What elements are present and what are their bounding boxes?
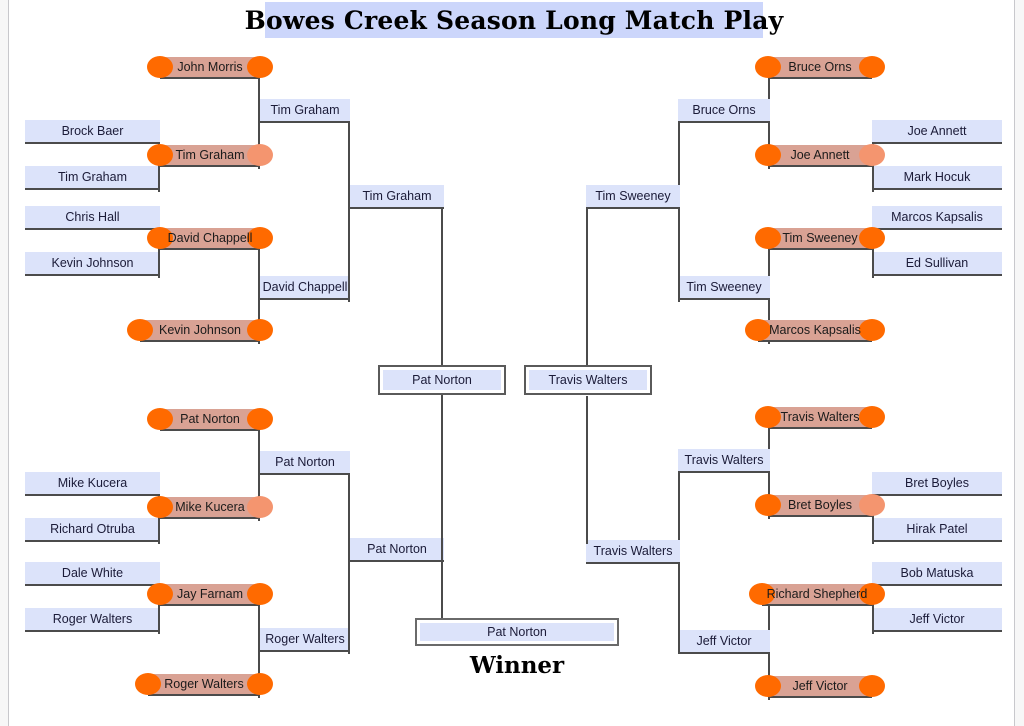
slot-right-r3-0[interactable]: Bruce Orns bbox=[678, 99, 770, 123]
winner-label: Winner bbox=[415, 652, 619, 679]
pill-right-r2-6[interactable]: Richard Shepherd bbox=[762, 584, 872, 606]
box-left-semifinal[interactable]: Pat Norton bbox=[378, 365, 506, 395]
slot-right-r4-1[interactable]: Travis Walters bbox=[586, 540, 680, 564]
bracket-page: Bowes Creek Season Long Match Play Brock… bbox=[0, 0, 1024, 726]
page-gutter-left bbox=[0, 0, 9, 726]
slot-left-r1-0[interactable]: Brock Baer bbox=[25, 120, 160, 144]
pill-left-r2-4[interactable]: Pat Norton bbox=[160, 409, 260, 431]
winner-box[interactable]: Pat Norton bbox=[415, 618, 619, 646]
pill-left-r2-6[interactable]: Jay Farnam bbox=[160, 584, 260, 606]
slot-right-r1-5[interactable]: Hirak Patel bbox=[872, 518, 1002, 542]
slot-right-r1-4[interactable]: Bret Boyles bbox=[872, 472, 1002, 496]
slot-left-r3-1[interactable]: David Chappell bbox=[260, 276, 350, 300]
slot-left-r1-4[interactable]: Mike Kucera bbox=[25, 472, 160, 496]
slot-right-r3-3[interactable]: Jeff Victor bbox=[678, 630, 770, 654]
pill-right-r2-1[interactable]: Joe Annett bbox=[768, 145, 872, 167]
pill-left-r2-1[interactable]: Tim Graham bbox=[160, 145, 260, 167]
connector-left-r3-1 bbox=[348, 475, 350, 654]
box-right-semifinal[interactable]: Travis Walters bbox=[524, 365, 652, 395]
slot-right-r3-1[interactable]: Tim Sweeney bbox=[678, 276, 770, 300]
connector-left-r4-0 bbox=[441, 209, 443, 367]
slot-right-r1-6[interactable]: Bob Matuska bbox=[872, 562, 1002, 586]
pill-right-r2-7[interactable]: Jeff Victor bbox=[768, 676, 872, 698]
pill-left-r2-7[interactable]: Roger Walters bbox=[148, 674, 260, 696]
slot-right-r4-0[interactable]: Tim Sweeney bbox=[586, 185, 680, 209]
page-title: Bowes Creek Season Long Match Play bbox=[265, 2, 763, 38]
slot-right-r1-2[interactable]: Marcos Kapsalis bbox=[872, 206, 1002, 230]
slot-left-r1-6[interactable]: Dale White bbox=[25, 562, 160, 586]
pill-right-r2-2[interactable]: Tim Sweeney bbox=[768, 228, 872, 250]
box-left-semifinal-label: Pat Norton bbox=[383, 370, 501, 390]
pill-right-r2-3[interactable]: Marcos Kapsalis bbox=[758, 320, 872, 342]
pill-right-r2-5[interactable]: Bret Boyles bbox=[768, 495, 872, 517]
slot-left-r4-1[interactable]: Pat Norton bbox=[350, 538, 444, 562]
slot-left-r3-0[interactable]: Tim Graham bbox=[260, 99, 350, 123]
slot-left-r4-0[interactable]: Tim Graham bbox=[350, 185, 444, 209]
winner-name: Pat Norton bbox=[420, 623, 614, 641]
connector-right-r4-0 bbox=[586, 209, 588, 367]
connector-right-r4-1 bbox=[586, 396, 588, 544]
pill-left-r2-5[interactable]: Mike Kucera bbox=[160, 497, 260, 519]
connector-right-r3-0 bbox=[678, 123, 680, 302]
slot-left-r1-2[interactable]: Chris Hall bbox=[25, 206, 160, 230]
connector-left-r3-0 bbox=[348, 123, 350, 302]
pill-right-r2-4[interactable]: Travis Walters bbox=[768, 407, 872, 429]
connector-left-final bbox=[441, 395, 443, 620]
pill-left-r2-0[interactable]: John Morris bbox=[160, 57, 260, 79]
slot-left-r1-5[interactable]: Richard Otruba bbox=[25, 518, 160, 542]
slot-right-r1-0[interactable]: Joe Annett bbox=[872, 120, 1002, 144]
slot-left-r1-7[interactable]: Roger Walters bbox=[25, 608, 160, 632]
pill-right-r2-0[interactable]: Bruce Orns bbox=[768, 57, 872, 79]
slot-left-r3-3[interactable]: Roger Walters bbox=[260, 628, 350, 652]
slot-right-r1-1[interactable]: Mark Hocuk bbox=[872, 166, 1002, 190]
page-gutter-right bbox=[1014, 0, 1024, 726]
pill-left-r2-2[interactable]: David Chappell bbox=[160, 228, 260, 250]
slot-right-r1-3[interactable]: Ed Sullivan bbox=[872, 252, 1002, 276]
slot-right-r3-2[interactable]: Travis Walters bbox=[678, 449, 770, 473]
pill-left-r2-3[interactable]: Kevin Johnson bbox=[140, 320, 260, 342]
box-right-semifinal-label: Travis Walters bbox=[529, 370, 647, 390]
slot-left-r1-1[interactable]: Tim Graham bbox=[25, 166, 160, 190]
slot-left-r3-2[interactable]: Pat Norton bbox=[260, 451, 350, 475]
slot-right-r1-7[interactable]: Jeff Victor bbox=[872, 608, 1002, 632]
slot-left-r1-3[interactable]: Kevin Johnson bbox=[25, 252, 160, 276]
